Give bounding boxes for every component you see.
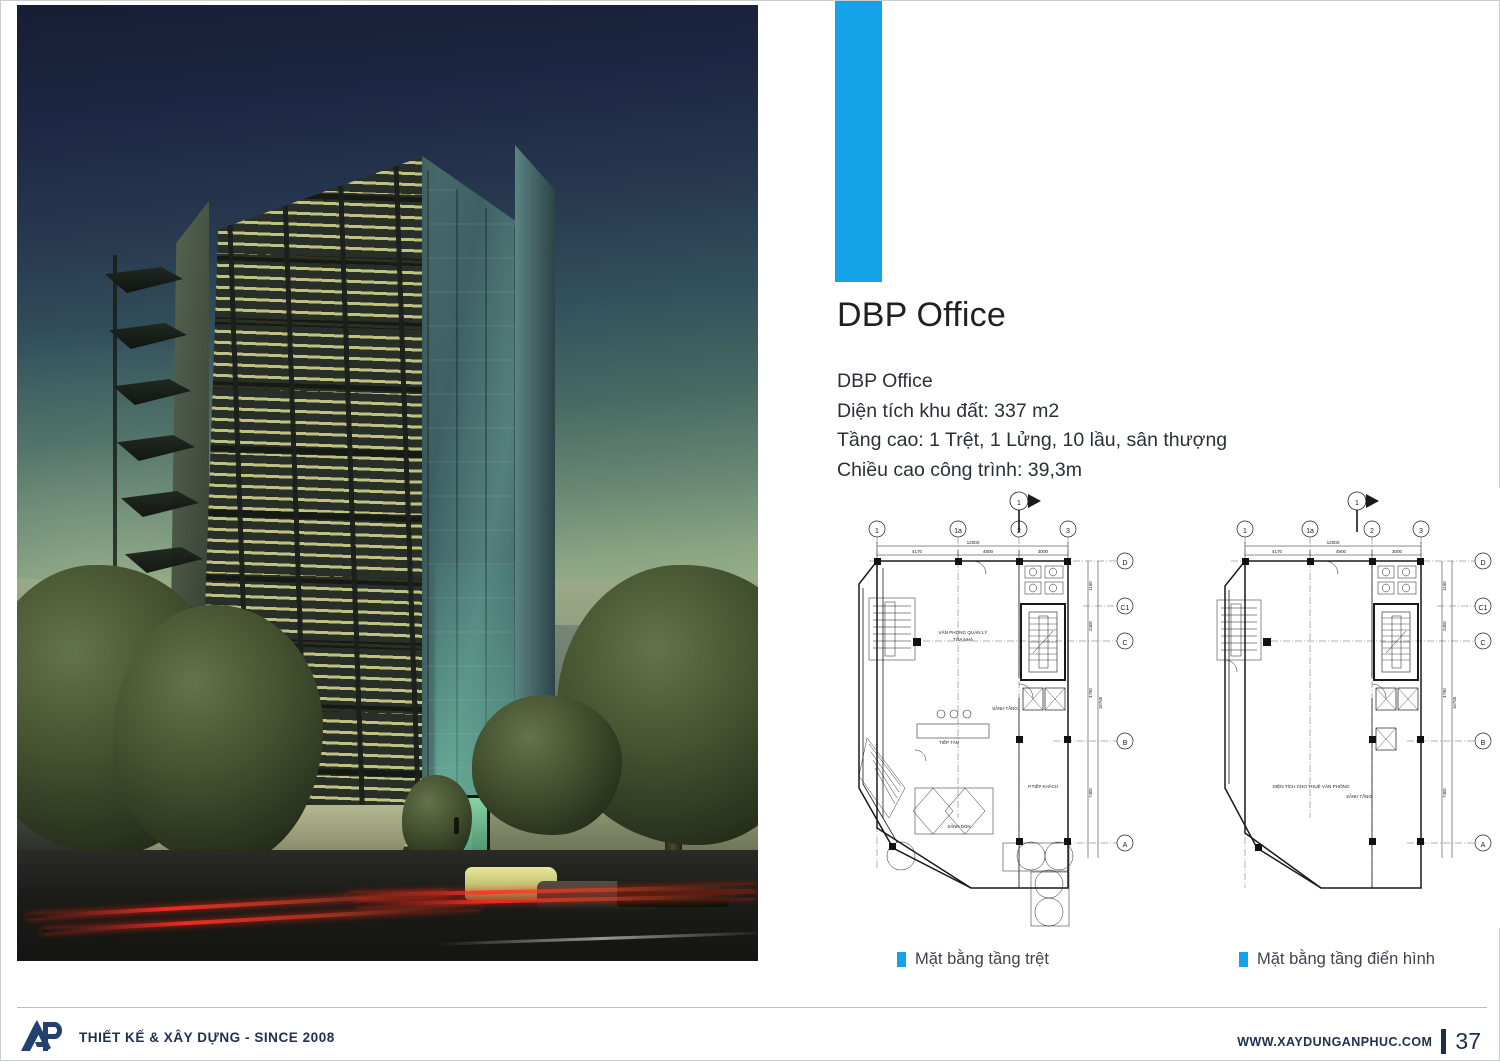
- service-core: [1021, 604, 1065, 680]
- door-swings: [915, 561, 1033, 761]
- section-marker: 1: [1010, 492, 1041, 532]
- dimension-chain-top: 12000 4170 4800 3000: [877, 540, 1068, 559]
- svg-text:A: A: [1123, 842, 1128, 849]
- tree: [472, 695, 622, 835]
- restroom-fixtures: [1378, 566, 1416, 594]
- svg-text:A: A: [1481, 842, 1486, 849]
- svg-text:3000: 3000: [1392, 549, 1403, 554]
- columns: [874, 558, 1071, 850]
- svg-text:P.TIẾP KHÁCH: P.TIẾP KHÁCH: [1028, 784, 1058, 789]
- caption-typical-floor: Mặt bằng tầng điển hình: [1239, 950, 1435, 969]
- svg-text:SẢNH TẦNG: SẢNH TẦNG: [1346, 794, 1372, 799]
- svg-text:C: C: [1122, 640, 1127, 647]
- room-labels: DIỆN TÍCH CHO THUÊ VĂN PHÒNG SẢNH TẦNG: [1273, 782, 1373, 799]
- svg-text:D: D: [1122, 560, 1127, 567]
- grid-bubbles-side: D C1 C B A: [1117, 553, 1133, 851]
- svg-text:1a: 1a: [1306, 528, 1314, 535]
- svg-text:C1: C1: [1121, 605, 1130, 612]
- columns: [1242, 558, 1424, 851]
- pedestrian: [454, 817, 459, 834]
- svg-text:1: 1: [1243, 528, 1247, 535]
- svg-text:TIẾP TÂN: TIẾP TÂN: [939, 740, 959, 745]
- svg-text:16765: 16765: [1452, 696, 1457, 709]
- grid-bubbles-top: 1 1a 2 3: [869, 521, 1076, 537]
- svg-text:2400: 2400: [1442, 621, 1447, 631]
- svg-text:12000: 12000: [1327, 540, 1340, 545]
- dimension-chain-side: 1150 2400 4750 16765 7400: [1442, 561, 1457, 858]
- west-stair: [869, 598, 915, 660]
- svg-text:1150: 1150: [1088, 581, 1093, 591]
- building-night-rendering: [17, 5, 758, 961]
- detail-line: Chiều cao công trình: 39,3m: [837, 456, 1227, 486]
- floor-plan-typical: 1 1 1a 2 3: [1211, 488, 1500, 928]
- footer-website-url[interactable]: WWW.XAYDUNGANPHUC.COM: [1237, 1035, 1432, 1049]
- door-swings: [1325, 561, 1386, 698]
- ramp: [859, 738, 905, 818]
- svg-text:4170: 4170: [912, 549, 923, 554]
- exterior-walls: [1225, 561, 1421, 888]
- svg-text:4750: 4750: [1442, 688, 1447, 698]
- footer-right-group: WWW.XAYDUNGANPHUC.COM 37: [1237, 1028, 1481, 1055]
- svg-text:1150: 1150: [1442, 581, 1447, 591]
- section-marker: 1: [1348, 492, 1379, 532]
- interior-walls: [1229, 561, 1372, 888]
- elevators: [1376, 688, 1418, 750]
- page-number-divider: [1441, 1029, 1446, 1054]
- bullet-square-icon: [1239, 952, 1248, 967]
- project-details: DBP Office Diện tích khu đất: 337 m2 Tần…: [837, 367, 1227, 485]
- caption-text: Mặt bằng tầng trệt: [915, 950, 1049, 969]
- detail-line: Tầng cao: 1 Trệt, 1 Lửng, 10 lầu, sân th…: [837, 426, 1227, 456]
- svg-text:SẢNH ĐÓN: SẢNH ĐÓN: [947, 824, 970, 829]
- caption-ground-floor: Mặt bằng tầng trệt: [897, 950, 1049, 969]
- page-title: DBP Office: [837, 296, 1006, 335]
- svg-text:TÒA NHÀ: TÒA NHÀ: [953, 636, 974, 642]
- content-column: DBP Office DBP Office Diện tích khu đất:…: [791, 1, 1500, 1011]
- page-number: 37: [1455, 1028, 1481, 1055]
- svg-text:C: C: [1480, 640, 1485, 647]
- svg-text:7400: 7400: [1442, 788, 1447, 798]
- svg-text:VĂN PHÒNG QUẢN LÝ: VĂN PHÒNG QUẢN LÝ: [938, 629, 987, 635]
- svg-text:C1: C1: [1479, 605, 1488, 612]
- car-black: [617, 877, 729, 907]
- elevators: [1023, 688, 1065, 710]
- svg-text:B: B: [1481, 740, 1486, 747]
- svg-text:3: 3: [1066, 528, 1070, 535]
- portfolio-page: DBP Office DBP Office Diện tích khu đất:…: [0, 0, 1500, 1061]
- footer-tagline: THIẾT KẾ & XÂY DỰNG - SINCE 2008: [79, 1030, 335, 1045]
- svg-text:7400: 7400: [1088, 788, 1093, 798]
- svg-text:DIỆN TÍCH CHO THUÊ VĂN PHÒNG: DIỆN TÍCH CHO THUÊ VĂN PHÒNG: [1273, 782, 1350, 789]
- parking-bays: [887, 842, 1073, 926]
- caption-text: Mặt bằng tầng điển hình: [1257, 950, 1435, 969]
- svg-text:4170: 4170: [1272, 549, 1283, 554]
- bullet-square-icon: [897, 952, 906, 967]
- dimension-chain-top: 12000 4170 4800 3000: [1245, 540, 1421, 559]
- svg-text:1: 1: [1017, 500, 1021, 507]
- svg-text:D: D: [1480, 560, 1485, 567]
- grid-bubbles-side: D C1 C B A: [1475, 553, 1491, 851]
- floor-plan-ground: 1 1 1a 2 3: [853, 488, 1153, 928]
- svg-text:2: 2: [1370, 528, 1374, 535]
- svg-text:B: B: [1123, 740, 1128, 747]
- company-logo: THIẾT KẾ & XÂY DỰNG - SINCE 2008: [17, 1018, 335, 1056]
- tree: [113, 605, 323, 865]
- detail-line: Diện tích khu đất: 337 m2: [837, 397, 1227, 427]
- floor-plan-typical-drawing: 1 1 1a 2 3: [1211, 488, 1500, 928]
- accent-bar: [835, 1, 882, 282]
- svg-text:2400: 2400: [1088, 621, 1093, 631]
- restroom-fixtures: [1025, 566, 1063, 594]
- service-core: [1374, 604, 1418, 680]
- room-labels: VĂN PHÒNG QUẢN LÝ TÒA NHÀ SẢNH TẦNG TIẾP…: [938, 629, 1057, 829]
- svg-text:4750: 4750: [1088, 688, 1093, 698]
- west-stair: [1217, 600, 1261, 672]
- page-footer: THIẾT KẾ & XÂY DỰNG - SINCE 2008 WWW.XAY…: [17, 1007, 1487, 1062]
- reception-desk: [917, 710, 989, 738]
- svg-text:SẢNH TẦNG: SẢNH TẦNG: [992, 706, 1018, 711]
- svg-text:4800: 4800: [983, 549, 994, 554]
- svg-text:3000: 3000: [1038, 549, 1049, 554]
- svg-text:2: 2: [1017, 528, 1021, 535]
- svg-text:1: 1: [875, 528, 879, 535]
- svg-text:12000: 12000: [967, 540, 980, 545]
- floor-plan-ground-drawing: 1 1 1a 2 3: [853, 488, 1153, 928]
- svg-text:16765: 16765: [1098, 696, 1103, 709]
- interior-walls: [863, 561, 1019, 888]
- svg-text:3: 3: [1419, 528, 1423, 535]
- exterior-walls: [859, 561, 1068, 888]
- ap-logo-icon: [17, 1018, 67, 1056]
- svg-text:4800: 4800: [1336, 549, 1347, 554]
- svg-text:1: 1: [1355, 500, 1359, 507]
- detail-line: DBP Office: [837, 367, 1227, 397]
- svg-text:1a: 1a: [954, 528, 962, 535]
- grid-bubbles-top: 1 1a 2 3: [1237, 521, 1429, 537]
- dimension-chain-side: 1150 2400 4750 16765 7400: [1088, 561, 1103, 858]
